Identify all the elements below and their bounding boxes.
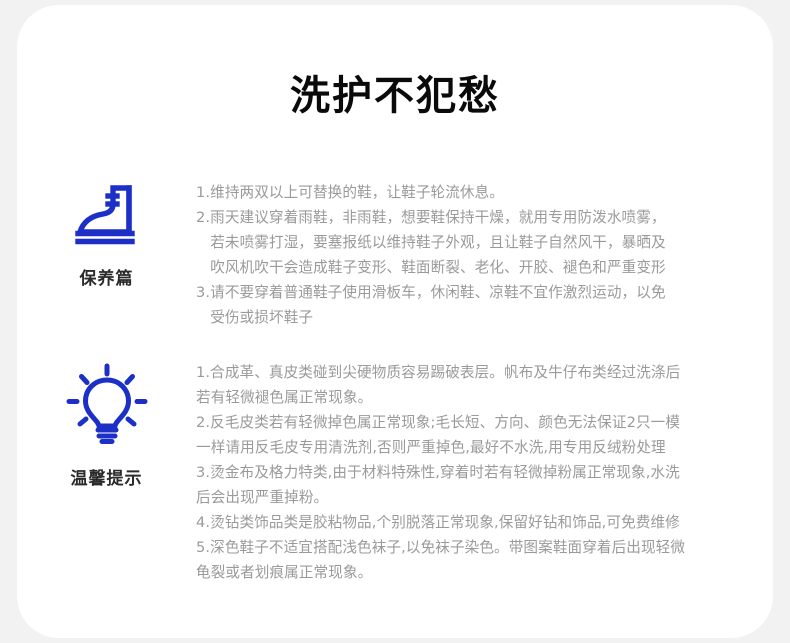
section-maintenance: 保养篇 1.维持两双以上可替换的鞋，让鞋子轮流休息。 2.雨天建议穿着雨鞋，非雨… [17,180,773,330]
maintenance-text-column: 1.维持两双以上可替换的鞋，让鞋子轮流休息。 2.雨天建议穿着雨鞋，非雨鞋，想要… [196,180,773,330]
boot-icon [64,180,150,252]
maintenance-line-2: 2.雨天建议穿着雨鞋，非雨鞋，想要鞋保持干燥，就用专用防泼水喷雾， 若未喷雾打湿… [196,205,757,280]
content-card: 洗护不犯愁 [17,5,773,638]
maintenance-line-1: 1.维持两双以上可替换的鞋，让鞋子轮流休息。 [196,180,757,205]
maintenance-label: 保养篇 [80,264,134,289]
section-tips: 温馨提示 1.合成革、真皮类碰到尖硬物质容易踢破表层。帆布及牛仔布类经过洗涤后 … [17,360,773,585]
tips-icon-column: 温馨提示 [17,360,196,489]
tips-label: 温馨提示 [71,464,143,489]
maintenance-icon-column: 保养篇 [17,180,196,289]
tips-line-4: 4.烫钻类饰品类是胶粘物品,个别脱落正常现象,保留好钻和饰品,可免费维修 [196,510,757,535]
maintenance-line-3: 3.请不要穿着普通鞋子使用滑板车，休闲鞋、凉鞋不宜作激烈运动，以免 受伤或损坏鞋… [196,280,757,330]
tips-line-5: 5.深色鞋子不适宜搭配浅色袜子,以免袜子染色。带图案鞋面穿着后出现轻微 龟裂或者… [196,535,757,585]
tips-line-3: 3.烫金布及格力特类,由于材料特殊性,穿着时若有轻微掉粉属正常现象,水洗 后会出… [196,460,757,510]
page-root: 洗护不犯愁 [0,0,790,643]
lightbulb-icon [64,360,150,452]
tips-line-2: 2.反毛皮类若有轻微掉色属正常现象;毛长短、方向、颜色无法保证2只一模 一样请用… [196,410,757,460]
tips-text-column: 1.合成革、真皮类碰到尖硬物质容易踢破表层。帆布及牛仔布类经过洗涤后 若有轻微褪… [196,360,773,585]
page-title: 洗护不犯愁 [17,63,773,121]
tips-line-1: 1.合成革、真皮类碰到尖硬物质容易踢破表层。帆布及牛仔布类经过洗涤后 若有轻微褪… [196,360,757,410]
